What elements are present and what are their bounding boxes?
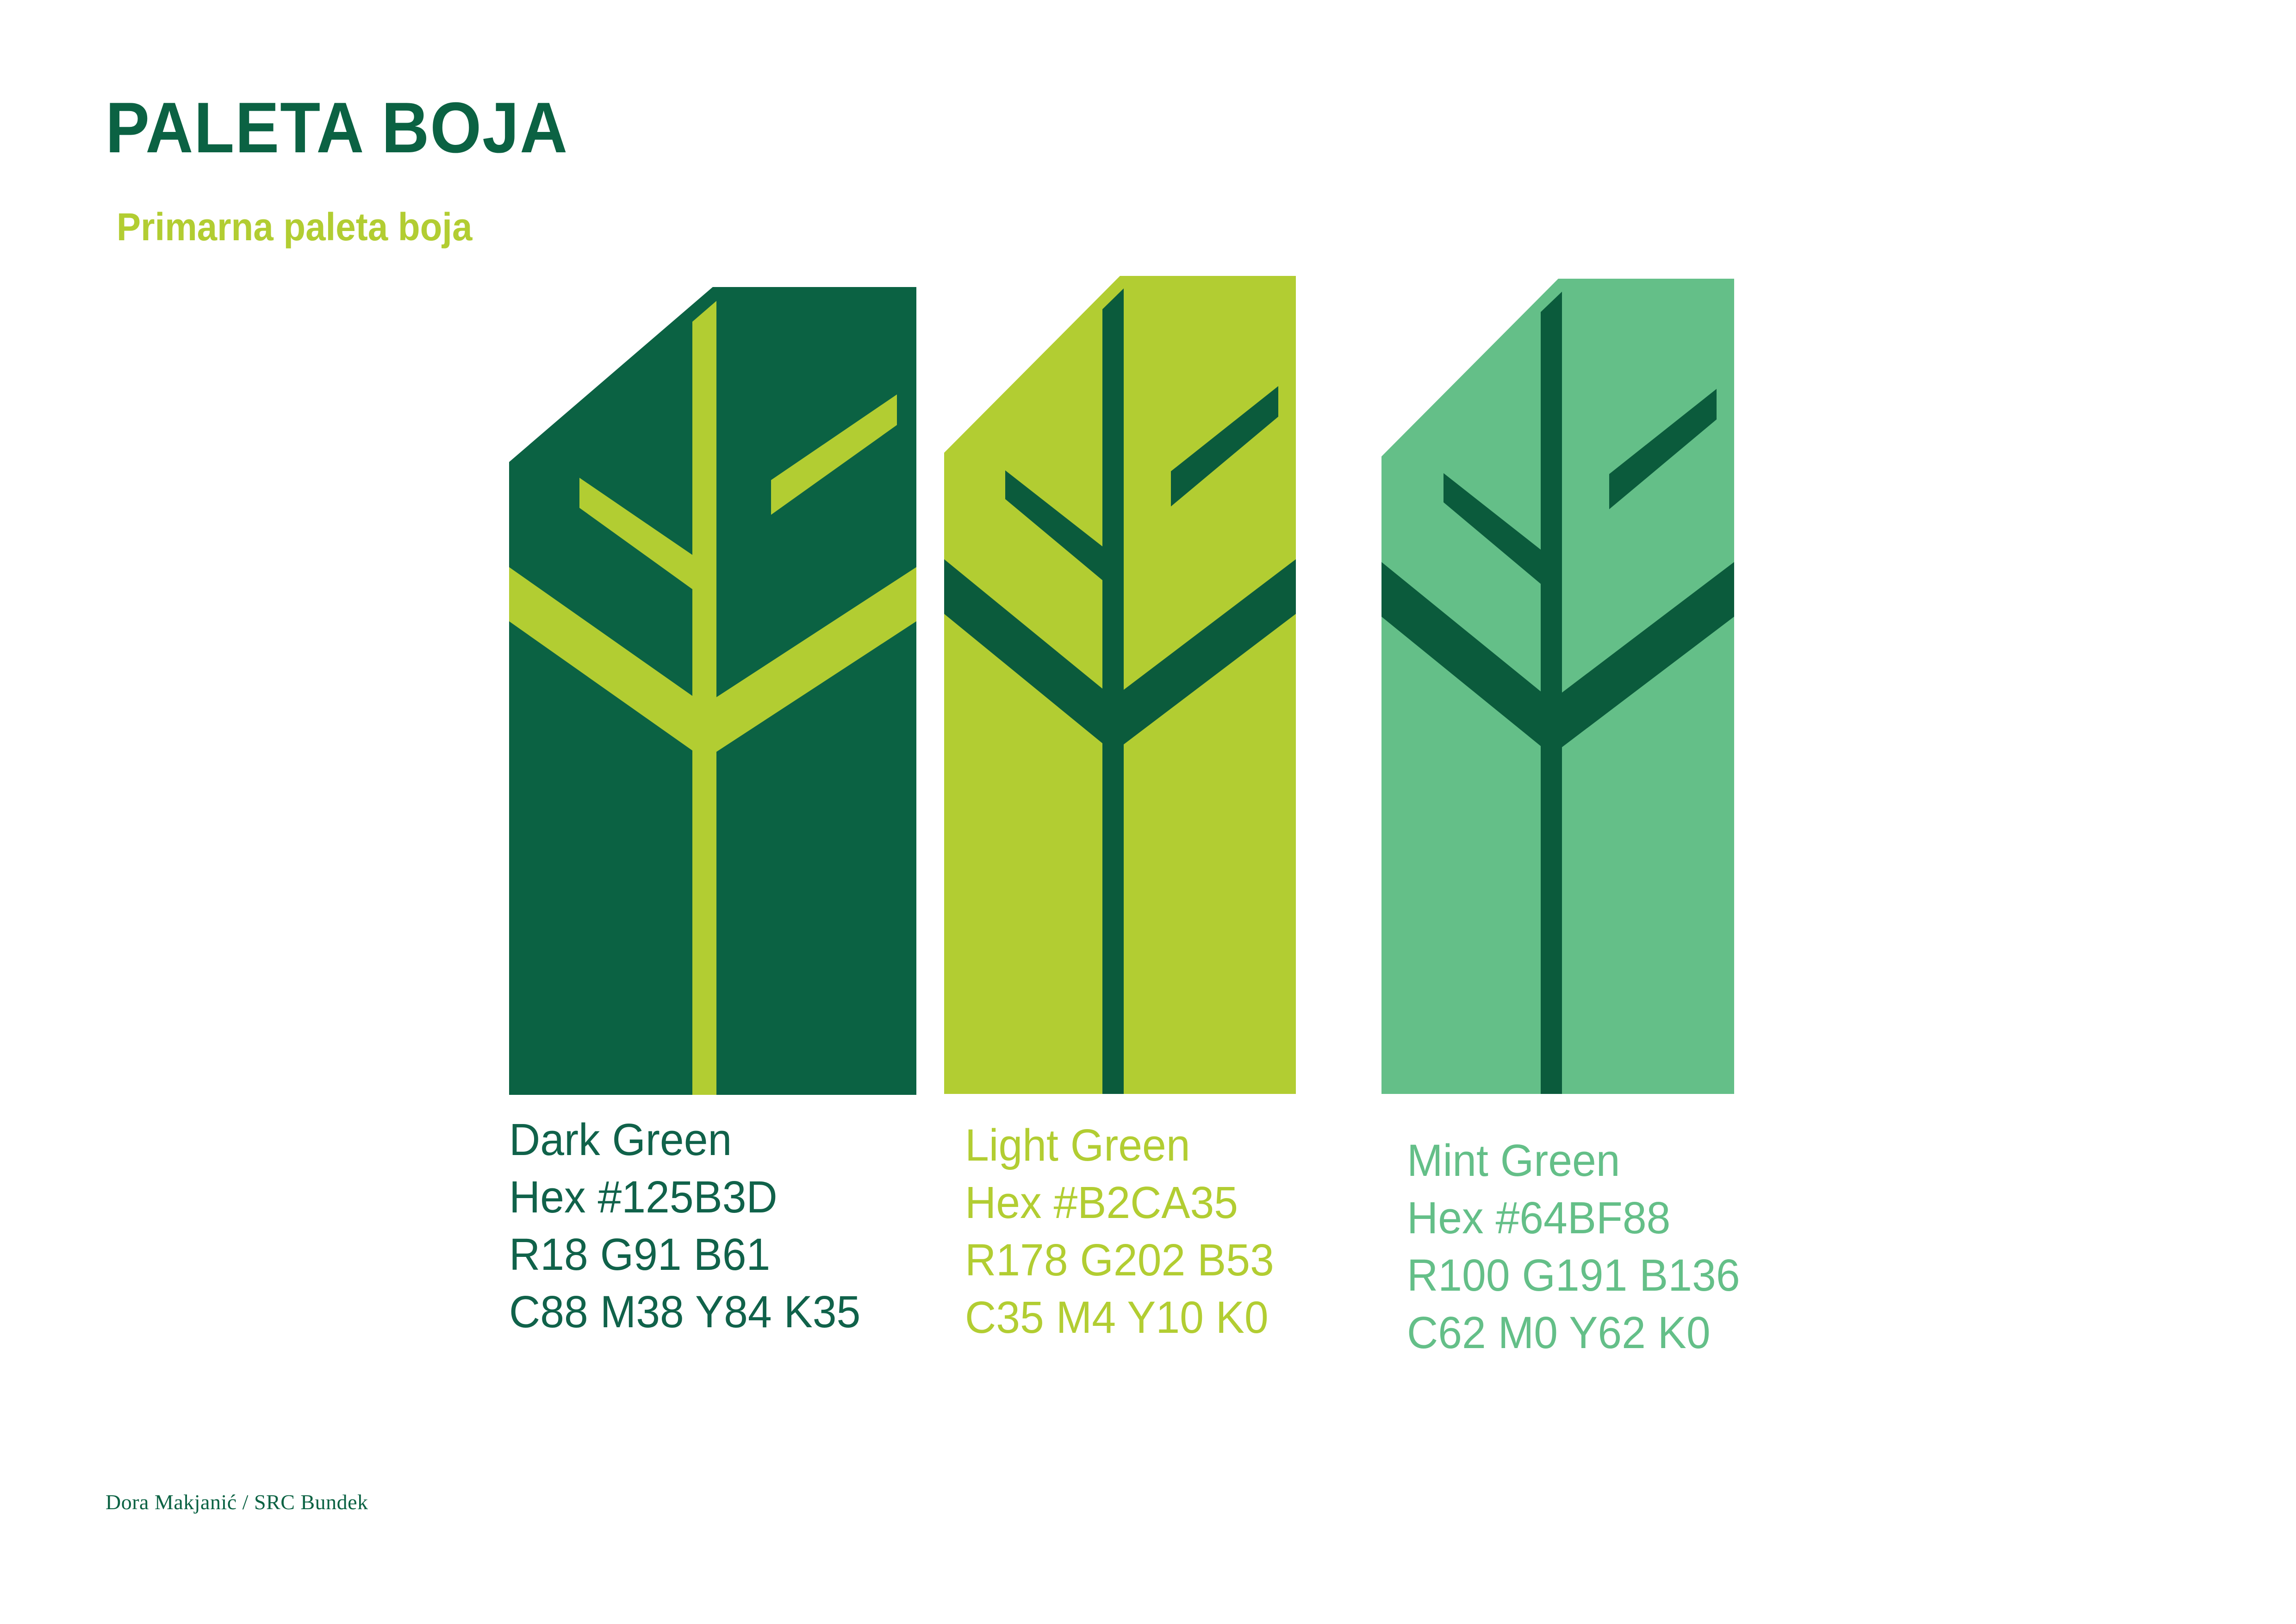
- color-info-light-green: Light Green Hex #B2CA35 R178 G202 B53 C3…: [965, 1117, 1274, 1347]
- swatch-card-mint-green: [1381, 272, 1734, 1094]
- color-rgb-value: R18 G91 B61: [509, 1226, 860, 1283]
- tree-trunk: [1541, 292, 1562, 1094]
- tree-trunk: [692, 301, 716, 1095]
- poster-page: PALETA BOJA Primarna paleta boja: [0, 0, 2296, 1624]
- tree-illustration-mint-green: [1381, 279, 1734, 1094]
- color-info-mint-green: Mint Green Hex #64BF88 R100 G191 B136 C6…: [1407, 1132, 1740, 1362]
- color-hex-value: Hex #125B3D: [509, 1168, 860, 1226]
- swatch-card-light-green: [944, 268, 1296, 1094]
- color-name: Mint Green: [1407, 1132, 1740, 1189]
- color-info-dark-green: Dark Green Hex #125B3D R18 G91 B61 C88 M…: [509, 1111, 860, 1341]
- color-rgb-value: R100 G191 B136: [1407, 1247, 1740, 1304]
- tree-trunk: [1102, 288, 1124, 1094]
- tree-illustration-dark-green: [509, 287, 916, 1095]
- swatch-card-dark-green: [509, 278, 916, 1095]
- color-cmyk-value: C62 M0 Y62 K0: [1407, 1304, 1740, 1362]
- page-subtitle: Primarna paleta boja: [117, 207, 472, 246]
- color-name: Dark Green: [509, 1111, 860, 1168]
- color-hex-value: Hex #B2CA35: [965, 1174, 1274, 1231]
- page-title: PALETA BOJA: [106, 92, 568, 163]
- color-rgb-value: R178 G202 B53: [965, 1231, 1274, 1289]
- color-name: Light Green: [965, 1117, 1274, 1174]
- color-cmyk-value: C35 M4 Y10 K0: [965, 1289, 1274, 1346]
- color-cmyk-value: C88 M38 Y84 K35: [509, 1283, 860, 1341]
- tree-illustration-light-green: [944, 276, 1296, 1094]
- footer-credit: Dora Makjanić / SRC Bundek: [106, 1492, 368, 1513]
- color-hex-value: Hex #64BF88: [1407, 1189, 1740, 1247]
